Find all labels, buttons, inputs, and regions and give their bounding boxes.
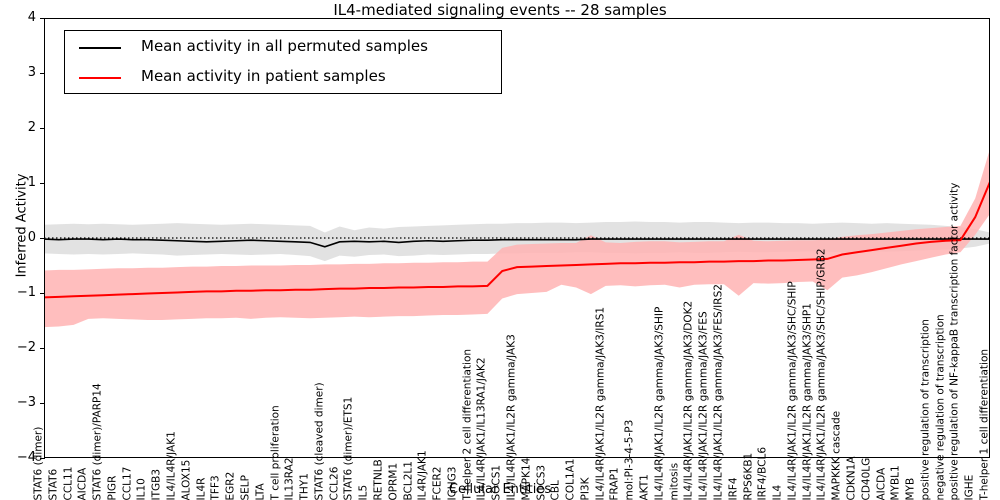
x-tick-label: mitosis	[669, 462, 680, 500]
x-tick-label: IGHG3	[447, 466, 458, 500]
x-tick-label: IL4/IL4R/JAK1/IL2R gamma/JAK3/SHIP	[654, 306, 665, 500]
x-tick-label: CBL	[551, 480, 562, 500]
x-tick-label: IL4/IL4R/JAK1/IL13RA1/JAK2	[477, 357, 488, 500]
x-tick-label: IL4/IL4R/JAK1/IL2R gamma/JAK3/DOK2	[684, 300, 695, 500]
x-tick-label: CCL11	[63, 466, 74, 500]
x-tick-label: IL4R	[196, 477, 207, 500]
x-tick-label: TFF3	[211, 475, 222, 500]
x-tick-label: IGHE	[965, 474, 976, 500]
y-tick-label: −3	[17, 395, 36, 410]
x-tick-label: IL4/IL4R/JAK1	[167, 431, 178, 500]
x-tick-label: THY1	[300, 473, 311, 500]
x-tick-label: ITGB3	[152, 468, 163, 500]
x-tick-label: T cell proliferation	[270, 405, 281, 500]
x-tick-label: OPRM1	[388, 462, 399, 500]
x-tick-label: MAPK14	[521, 457, 532, 500]
y-tick-label: 4	[28, 10, 36, 25]
x-tick-label: MYB	[906, 477, 917, 500]
x-tick-label: COL1A1	[566, 458, 577, 500]
x-tick-label: IL10	[137, 478, 148, 500]
x-tick-label: PIGR	[107, 475, 118, 500]
x-tick-label: negative regulation of transcription	[935, 314, 946, 500]
y-tick-label: 0	[28, 230, 36, 245]
x-tick-label: STAT6 (dimer)/ETS1	[344, 396, 355, 500]
x-tick-label: EGR2	[226, 471, 237, 500]
x-tick-label: IL4/IL4R/JAK1/IL2R gamma/JAK3	[507, 334, 518, 500]
x-tick-label: positive regulation of transcription	[920, 319, 931, 500]
y-tick-label: 3	[28, 65, 36, 80]
x-tick-label: STAT6 (dimer)	[34, 426, 45, 500]
x-tick-label: STAT6	[48, 468, 59, 500]
x-tick-label: SOCS1	[492, 464, 503, 500]
legend-line-patient	[79, 77, 121, 79]
x-tick-label: CDKN1A	[846, 456, 857, 500]
x-tick-label: RETNLB	[373, 459, 384, 500]
x-tick-label: IL4/IL4R/JAK1/IL2R gamma/JAK3/IRS1	[595, 306, 606, 500]
x-tick-label: CCL26	[329, 466, 340, 500]
x-tick-label: MAPKKK cascade	[832, 410, 843, 500]
x-tick-label: IL5	[359, 484, 370, 500]
x-tick-label: LTA	[255, 483, 266, 500]
x-tick-label: IL4/IL4R/JAK1/IL2R gamma/JAK3/SHP1	[802, 303, 813, 500]
x-tick-label: IL13RA2	[285, 457, 296, 500]
x-tick-label: IL4/IL4R/JAK1/IL2R gamma/JAK3/SHC/SHIP	[787, 281, 798, 500]
x-tick-label: RPS6KB1	[743, 452, 754, 500]
x-tick-label: CD40LG	[861, 457, 872, 500]
x-tick-label: STAT6 (cleaved dimer)	[314, 382, 325, 500]
x-tick-label: BCL2L1	[403, 461, 414, 500]
x-tick-label: mol:PI-3-4-5-P3	[625, 419, 636, 500]
x-tick-label: SOCS3	[536, 464, 547, 500]
x-tick-label: AICDA	[876, 467, 887, 500]
y-tick-label: 1	[28, 175, 36, 190]
legend: Mean activity in all permuted samples Me…	[64, 30, 502, 94]
y-axis-ticks: 43210−1−2−3−4	[0, 18, 40, 458]
x-tick-label: IRF4/BCL6	[758, 446, 769, 500]
x-tick-label: AKT1	[640, 474, 651, 500]
y-tick-label: −2	[17, 340, 36, 355]
x-tick-label: T-helper 1 cell differentiation	[980, 348, 991, 500]
x-tick-label: IL4R/JAK1	[418, 450, 429, 500]
x-tick-label: SELP	[240, 475, 251, 500]
x-tick-label: FRAP1	[610, 467, 621, 500]
legend-label-permuted: Mean activity in all permuted samples	[141, 37, 428, 55]
x-axis-tick-labels: STAT6 (dimer)STAT6CCL11AICDASTAT6 (dimer…	[44, 460, 990, 500]
x-tick-label: FCER2	[433, 466, 444, 500]
x-tick-label: positive regulation of NF-kappaB transcr…	[950, 182, 961, 500]
x-tick-label: IL4	[773, 484, 784, 500]
legend-label-patient: Mean activity in patient samples	[141, 67, 386, 85]
x-tick-label: IL4/IL4R/JAK1/IL2R gamma/JAK3/FES/IRS2	[713, 284, 724, 500]
legend-line-permuted	[79, 47, 121, 49]
x-tick-label: T-helper 2 cell differentiation	[462, 348, 473, 500]
x-tick-label: ALOX15	[181, 459, 192, 500]
legend-item-permuted: Mean activity in all permuted samples	[65, 32, 501, 64]
x-tick-label: IL4/IL4R/JAK1/IL2R gamma/JAK3/FES	[699, 311, 710, 500]
x-tick-label: MYBL1	[891, 465, 902, 500]
x-tick-label: CCL17	[122, 466, 133, 500]
x-tick-label: IRF4	[728, 477, 739, 500]
legend-item-patient: Mean activity in patient samples	[65, 62, 501, 94]
chart-title: IL4-mediated signaling events -- 28 samp…	[0, 1, 1000, 19]
x-tick-label: STAT6 (dimer)/PARP14	[93, 383, 104, 500]
x-tick-label: PI3K	[580, 477, 591, 500]
y-tick-label: −1	[17, 285, 36, 300]
y-tick-label: 2	[28, 120, 36, 135]
chart-root: IL4-mediated signaling events -- 28 samp…	[0, 0, 1000, 500]
x-tick-label: IL4/IL4R/JAK1/IL2R gamma/JAK3/SHC/SHIP/G…	[817, 248, 828, 500]
x-tick-label: AICDA	[78, 467, 89, 500]
